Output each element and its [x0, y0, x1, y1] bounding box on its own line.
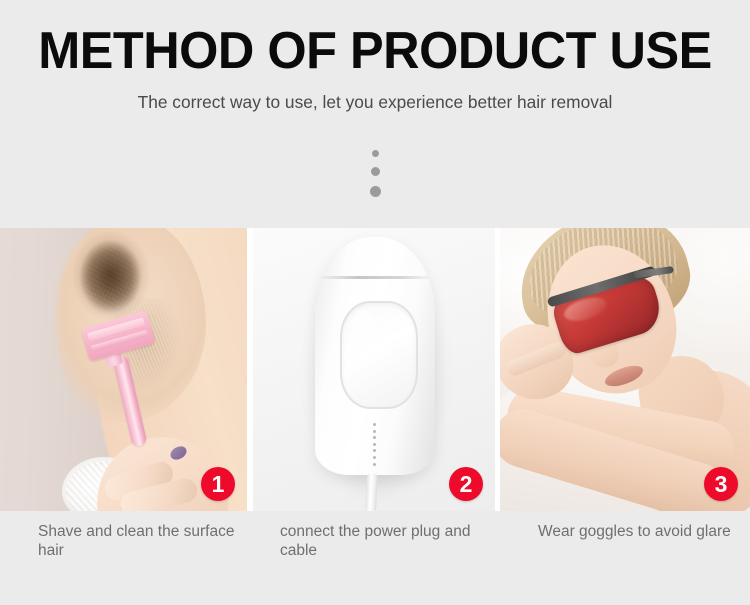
- step-number-badge-2: 2: [449, 467, 483, 501]
- divider-dot-small: [372, 150, 379, 157]
- step-image-1: 1: [0, 228, 247, 511]
- power-cable: [365, 473, 378, 511]
- led-dot: [373, 443, 376, 446]
- device-led-indicators: [373, 423, 376, 466]
- step-image-2: 2: [253, 228, 495, 511]
- device-cap-seam: [321, 276, 429, 279]
- led-dot: [373, 456, 376, 459]
- step-image-strip: 1 2: [0, 228, 750, 511]
- step-caption-1: Shave and clean the surface hair: [38, 522, 243, 560]
- page-subtitle: The correct way to use, let you experien…: [4, 90, 747, 114]
- divider-dots: [0, 150, 750, 197]
- led-dot: [373, 449, 376, 452]
- caption-row: Shave and clean the surface hair connect…: [0, 511, 750, 605]
- step-number-badge-3: 3: [704, 467, 738, 501]
- divider-dot-medium: [371, 167, 380, 176]
- header-section: METHOD OF PRODUCT USE The correct way to…: [0, 0, 750, 228]
- led-dot: [373, 436, 376, 439]
- step-caption-2: connect the power plug and cable: [280, 522, 490, 560]
- led-dot: [373, 423, 376, 426]
- divider-dot-large: [370, 186, 381, 197]
- led-dot: [373, 463, 376, 466]
- led-dot: [373, 430, 376, 433]
- product-infographic: METHOD OF PRODUCT USE The correct way to…: [0, 0, 750, 605]
- device-flash-window: [340, 301, 418, 409]
- page-title: METHOD OF PRODUCT USE: [11, 22, 739, 80]
- step-image-3: 3: [500, 228, 750, 511]
- step-caption-3: Wear goggles to avoid glare: [538, 522, 743, 541]
- step-number-badge-1: 1: [201, 467, 235, 501]
